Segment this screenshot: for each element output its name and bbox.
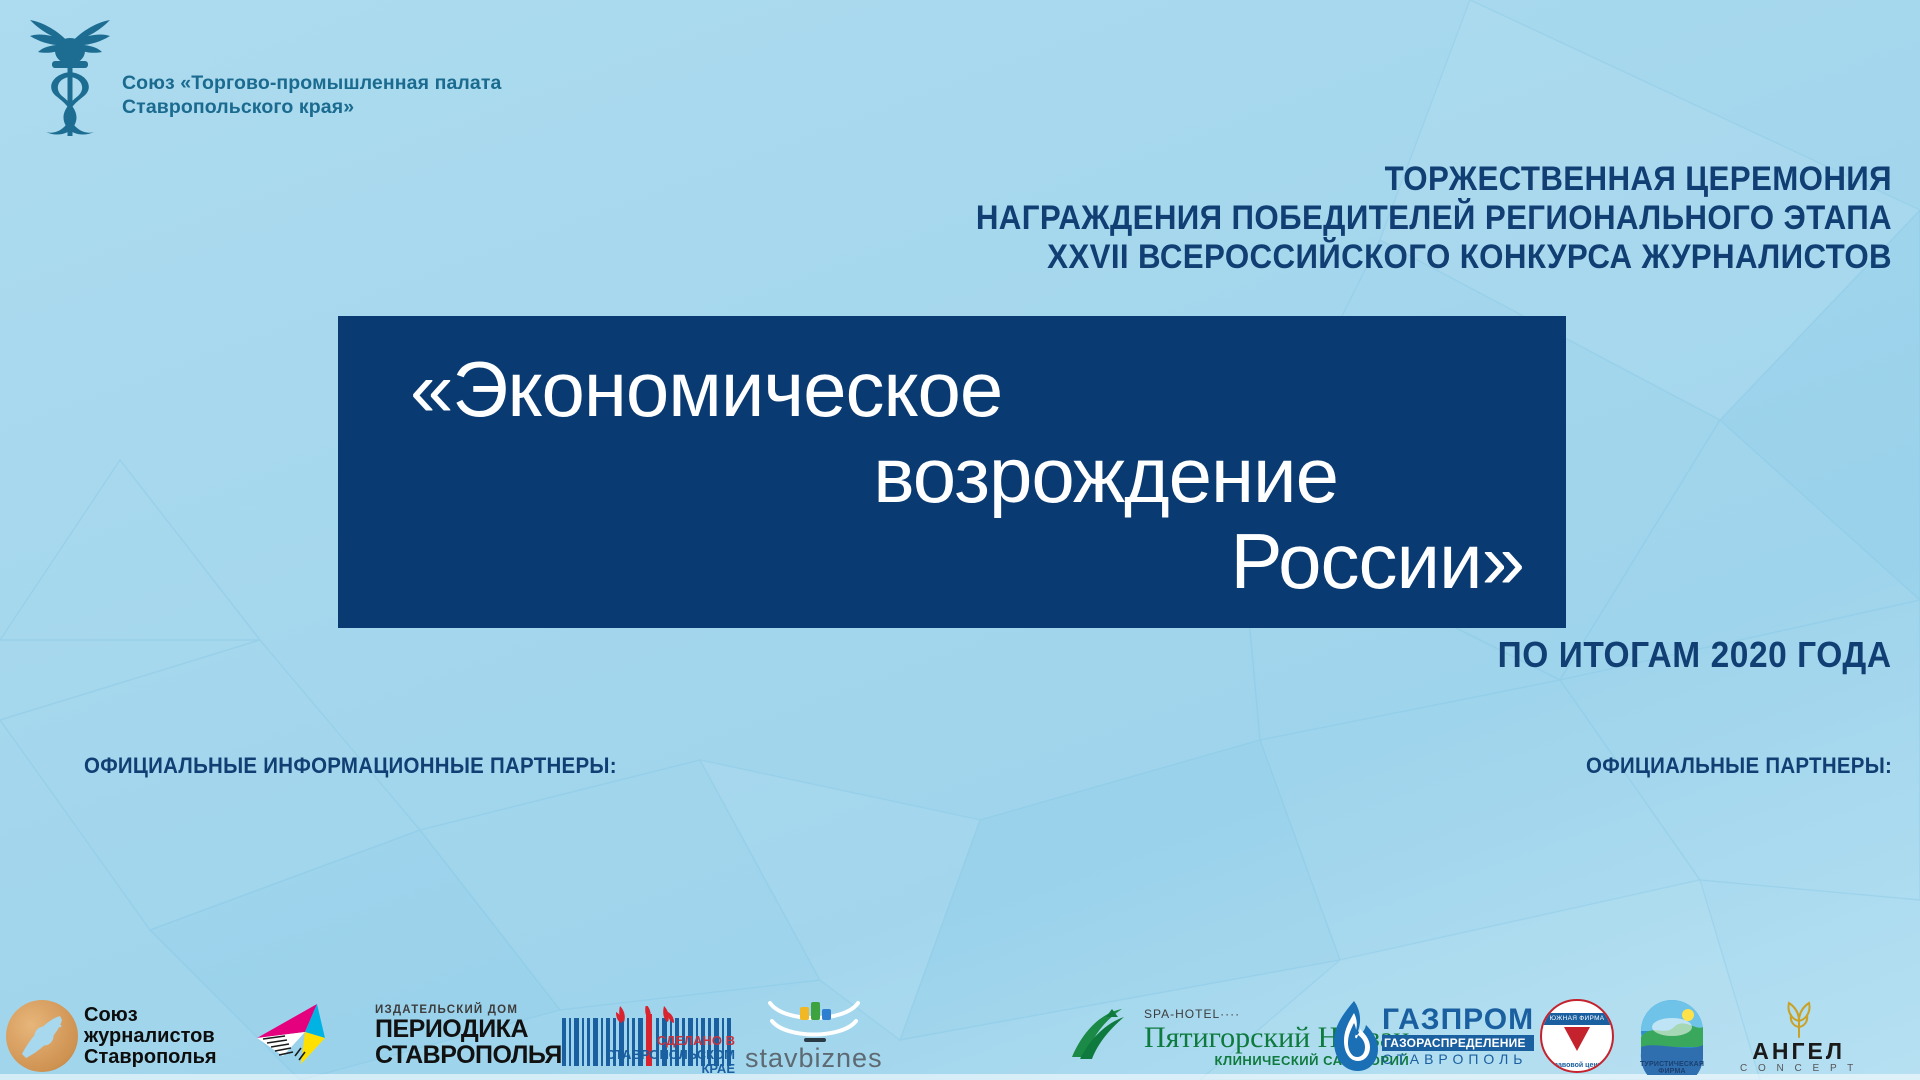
official-partners-caption: ОФИЦИАЛЬНЫЕ ПАРТНЕРЫ: bbox=[1586, 753, 1892, 779]
logo-line-2: C O N C E P T bbox=[1740, 1063, 1857, 1074]
title-line-2: возрождение bbox=[338, 432, 1566, 518]
gold-tree-icon bbox=[1777, 999, 1821, 1039]
logo-line-3: КРАЕ bbox=[701, 1061, 735, 1076]
title-plate: «Экономическое возрождение России» bbox=[338, 316, 1566, 628]
pen-nib-disc-icon bbox=[6, 1000, 78, 1072]
ceremony-line-1: ТОРЖЕСТВЕННАЯ ЦЕРЕМОНИЯ bbox=[862, 160, 1892, 199]
organizer-logo: Союз «Торгово-промышленная палата Ставро… bbox=[28, 14, 501, 136]
logo-line-1: ГАЗПРОМ bbox=[1382, 1005, 1534, 1035]
landscape-circle-icon: ТУРИСТИЧЕСКАЯ ФИРМА bbox=[1630, 997, 1714, 1075]
logo-line-3: СТАВРОПОЛЬ bbox=[1382, 1051, 1534, 1067]
mountain-icon bbox=[1070, 1007, 1140, 1065]
logo-paper-plane[interactable] bbox=[255, 992, 347, 1080]
logo-soyuz-zhurnalistov[interactable]: Союз журналистов Ставрополья bbox=[6, 992, 217, 1080]
logo-line-2: ГАЗОРАСПРЕДЕЛЕНИЕ bbox=[1382, 1035, 1534, 1051]
ceremony-line-3: XXVII ВСЕРОССИЙСКОГО КОНКУРСА ЖУРНАЛИСТО… bbox=[862, 238, 1892, 277]
title-line-1: «Экономическое bbox=[338, 316, 1566, 432]
ceremony-line-2: НАГРАЖДЕНИЯ ПОБЕДИТЕЛЕЙ РЕГИОНАЛЬНОГО ЭТ… bbox=[862, 199, 1892, 238]
paper-plane-icon bbox=[255, 998, 347, 1075]
poster-canvas: Союз «Торгово-промышленная палата Ставро… bbox=[0, 0, 1920, 1080]
year-line: ПО ИТОГАМ 2020 ГОДА bbox=[1498, 634, 1892, 676]
title-line-3: России» bbox=[338, 518, 1566, 604]
info-partners-caption: ОФИЦИАЛЬНЫЕ ИНФОРМАЦИОННЫЕ ПАРТНЕРЫ: bbox=[84, 753, 617, 779]
logo-periodika-stavropolya[interactable]: ИЗДАТЕЛЬСКИЙ ДОМ ПЕРИОДИКА СТАВРОПОЛЬЯ bbox=[375, 992, 562, 1080]
logo-caption: СДЕЛАНО В СТАВРОПОЛЬСКОМ КРАЕ bbox=[560, 1034, 735, 1076]
logo-stavbiznes[interactable]: stavbiznes bbox=[745, 992, 883, 1080]
logo-band-label: ЮЖНАЯ ФИРМА bbox=[1542, 1013, 1612, 1025]
logo-line-2: СТАВРОПОЛЬЯ bbox=[375, 1042, 562, 1068]
logo-line-2: СТАВРОПОЛЬСКОМ bbox=[606, 1047, 735, 1062]
logo-gazprom-gazoraspredelenie[interactable]: ГАЗПРОМ ГАЗОРАСПРЕДЕЛЕНИЕ СТАВРОПОЛЬ bbox=[1328, 992, 1534, 1080]
organizer-caption: Союз «Торгово-промышленная палата Ставро… bbox=[122, 71, 501, 120]
red-shield-icon bbox=[1564, 1027, 1590, 1051]
logo-ariana[interactable]: ТУРИСТИЧЕСКАЯ ФИРМА bbox=[1630, 992, 1714, 1080]
partner-logo-strip: Союз журналистов Ставрополья bbox=[0, 992, 1920, 1080]
logo-angel-concept[interactable]: АНГЕЛ C O N C E P T bbox=[1740, 992, 1857, 1080]
logo-label: stavbiznes bbox=[745, 1043, 883, 1074]
ceremony-heading: ТОРЖЕСТВЕННАЯ ЦЕРЕМОНИЯ НАГРАЖДЕНИЯ ПОБЕ… bbox=[772, 160, 1892, 277]
logo-label: ТУРИСТИЧЕСКАЯ ФИРМА bbox=[1630, 1061, 1714, 1075]
logo-sdelano-v-stavropolskom-krae[interactable]: СДЕЛАНО В СТАВРОПОЛЬСКОМ КРАЕ bbox=[560, 992, 735, 1080]
logo-line-1: ПЕРИОДИКА bbox=[375, 1016, 528, 1042]
logo-pre-label: SPA-HOTEL···· bbox=[1144, 1007, 1240, 1021]
gas-flame-icon bbox=[1328, 999, 1380, 1073]
logo-label: Союз журналистов Ставрополья bbox=[84, 1005, 217, 1068]
bar-chart-eye-icon bbox=[760, 999, 868, 1047]
logo-pravovoy-centr[interactable]: ЮЖНАЯ ФИРМА Правовой центр bbox=[1540, 992, 1614, 1080]
caduceus-icon bbox=[28, 14, 112, 136]
logo-line-1: СДЕЛАНО В bbox=[657, 1033, 735, 1048]
logo-label: Правовой центр bbox=[1542, 1062, 1612, 1069]
logo-line-1: АНГЕЛ bbox=[1752, 1039, 1845, 1063]
